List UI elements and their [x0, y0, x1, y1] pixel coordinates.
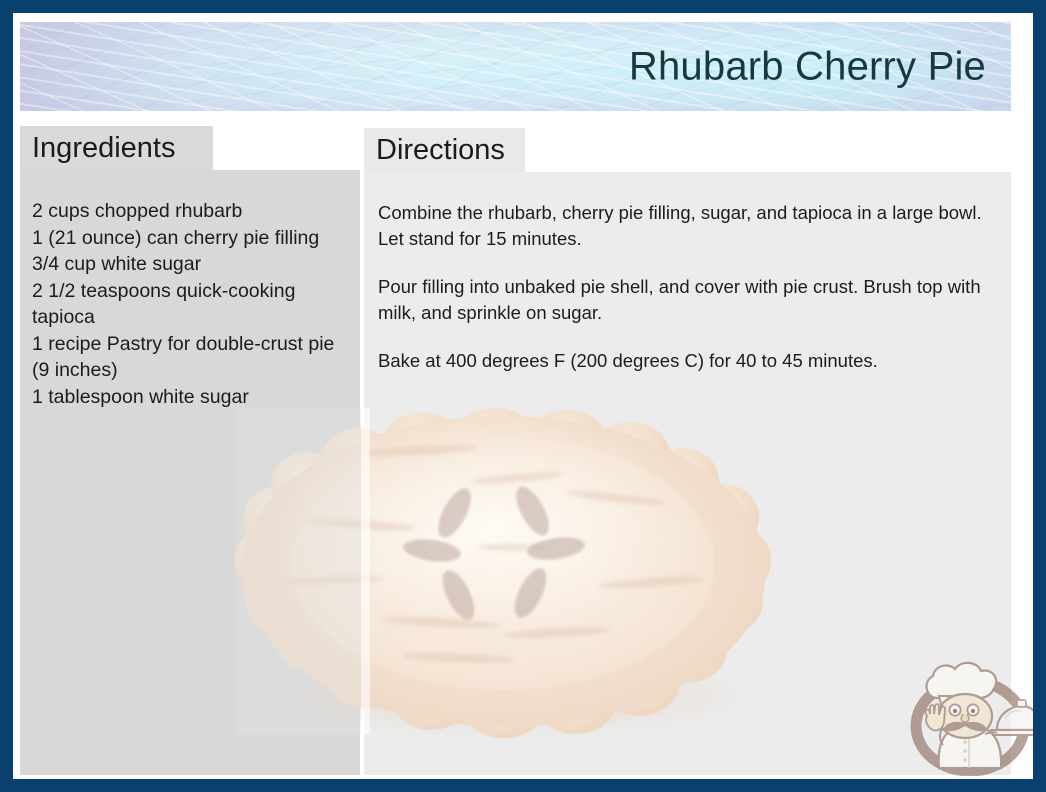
ingredient-item: 2 1/2 teaspoons quick-cooking tapioca	[32, 278, 350, 331]
header-banner: Rhubarb Cherry Pie	[20, 22, 1011, 111]
ingredients-panel: 2 cups chopped rhubarb 1 (21 ounce) can …	[20, 170, 360, 775]
direction-step: Pour filling into unbaked pie shell, and…	[378, 274, 989, 326]
page-title: Rhubarb Cherry Pie	[629, 44, 986, 89]
ingredient-item: 3/4 cup white sugar	[32, 251, 350, 278]
ingredient-item: 1 (21 ounce) can cherry pie filling	[32, 225, 350, 252]
recipe-card-page: Rhubarb Cherry Pie Ingredients Direction…	[0, 0, 1046, 792]
section-tab-directions: Directions	[364, 128, 525, 172]
direction-step: Combine the rhubarb, cherry pie filling,…	[378, 200, 989, 252]
ingredient-item: 1 tablespoon white sugar	[32, 384, 350, 411]
page-frame: Rhubarb Cherry Pie Ingredients Direction…	[13, 13, 1033, 779]
ingredient-item: 2 cups chopped rhubarb	[32, 198, 350, 225]
section-tab-ingredients: Ingredients	[20, 126, 213, 170]
ingredient-item: 1 recipe Pastry for double-crust pie (9 …	[32, 331, 350, 384]
directions-panel: Combine the rhubarb, cherry pie filling,…	[364, 172, 1011, 775]
direction-step: Bake at 400 degrees F (200 degrees C) fo…	[378, 348, 989, 374]
